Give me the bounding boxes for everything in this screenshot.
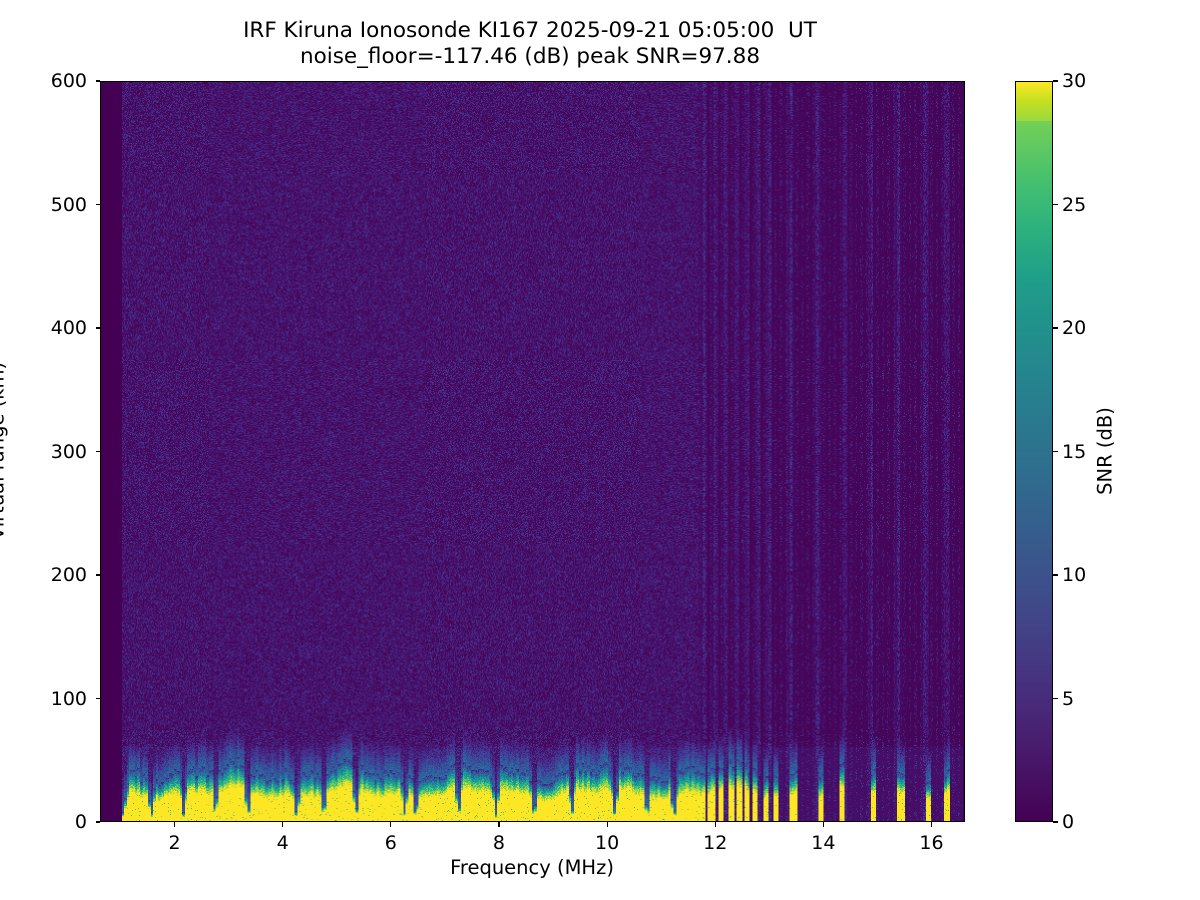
y-tick-mark: [96, 451, 101, 452]
colorbar-tick-label: 30: [1062, 70, 1086, 92]
ionogram-figure: IRF Kiruna Ionosonde KI167 2025-09-21 05…: [0, 0, 1200, 900]
colorbar-tick-mark: [1053, 204, 1058, 205]
ionogram-heatmap: [101, 82, 964, 821]
y-tick-mark: [96, 80, 101, 81]
y-tick-label: 100: [0, 688, 87, 710]
x-tick-label: 10: [595, 832, 619, 854]
x-tick-mark: [931, 822, 932, 827]
y-tick-mark: [96, 204, 101, 205]
colorbar-tick-label: 10: [1062, 564, 1086, 586]
y-tick-mark: [96, 821, 101, 822]
y-axis-label: Virtual range (km): [0, 362, 9, 540]
x-tick-mark: [607, 822, 608, 827]
colorbar-gradient: [1015, 81, 1053, 822]
colorbar-tick-label: 5: [1062, 688, 1074, 710]
x-tick-mark: [390, 822, 391, 827]
x-axis-label: Frequency (MHz): [450, 856, 614, 879]
y-tick-label: 600: [0, 70, 87, 92]
y-tick-label: 400: [0, 317, 87, 339]
x-tick-label: 12: [703, 832, 727, 854]
title-line-1: IRF Kiruna Ionosonde KI167 2025-09-21 05…: [0, 18, 1060, 44]
y-tick-label: 200: [0, 564, 87, 586]
x-tick-label: 16: [919, 832, 943, 854]
x-tick-mark: [715, 822, 716, 827]
colorbar-top-extend: [1015, 81, 1053, 121]
y-tick-label: 500: [0, 194, 87, 216]
x-tick-label: 8: [493, 832, 505, 854]
x-tick-label: 6: [385, 832, 397, 854]
colorbar-tick-mark: [1053, 451, 1058, 452]
y-tick-mark: [96, 574, 101, 575]
x-tick-mark: [823, 822, 824, 827]
x-tick-mark: [498, 822, 499, 827]
figure-title: IRF Kiruna Ionosonde KI167 2025-09-21 05…: [0, 18, 1060, 70]
colorbar-tick-mark: [1053, 327, 1058, 328]
colorbar-tick-label: 15: [1062, 441, 1086, 463]
colorbar-tick-mark: [1053, 80, 1058, 81]
x-tick-label: 2: [169, 832, 181, 854]
x-tick-label: 4: [277, 832, 289, 854]
x-tick-label: 14: [811, 832, 835, 854]
plot-area: [100, 81, 965, 822]
x-tick-mark: [174, 822, 175, 827]
colorbar-tick-label: 20: [1062, 317, 1086, 339]
y-tick-label: 0: [0, 811, 87, 833]
title-line-2: noise_floor=-117.46 (dB) peak SNR=97.88: [0, 44, 1060, 70]
colorbar-tick-mark: [1053, 821, 1058, 822]
colorbar-tick-mark: [1053, 698, 1058, 699]
colorbar-label: SNR (dB): [1094, 407, 1117, 495]
colorbar-tick-mark: [1053, 574, 1058, 575]
x-tick-mark: [282, 822, 283, 827]
colorbar-tick-label: 25: [1062, 194, 1086, 216]
y-tick-mark: [96, 327, 101, 328]
y-tick-label: 300: [0, 441, 87, 463]
y-tick-mark: [96, 698, 101, 699]
colorbar-tick-label: 0: [1062, 811, 1074, 833]
